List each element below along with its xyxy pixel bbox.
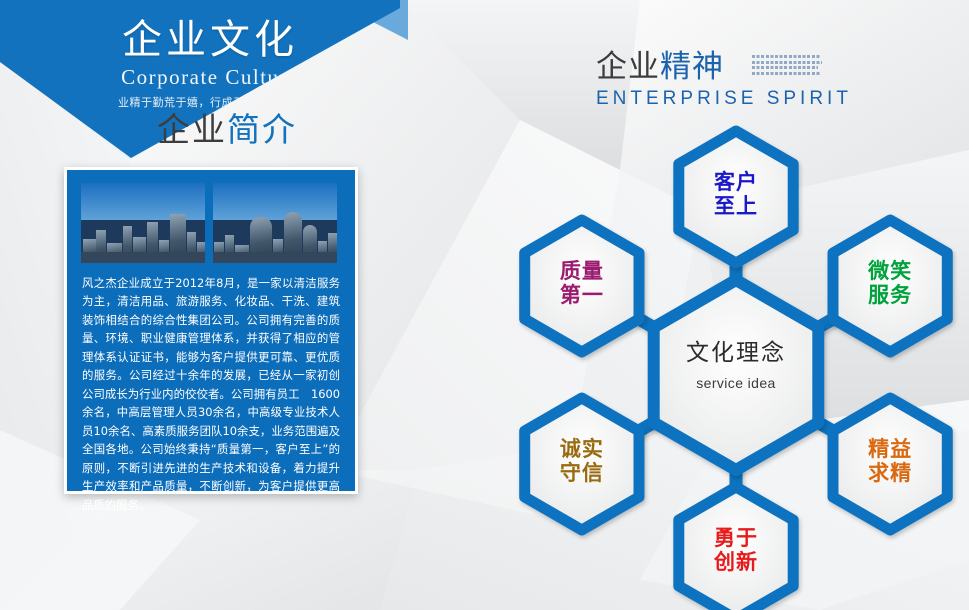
city-skyline-photo: [81, 183, 205, 263]
spirit-title-cn-dark: 企业: [596, 49, 660, 85]
hexagon-integrity[interactable]: [525, 398, 639, 530]
hexagon-svg: [480, 110, 969, 610]
intro-heading-dark: 企业: [157, 110, 227, 149]
hexagon-smile-service[interactable]: [833, 220, 947, 352]
skyscraper-photo: [213, 183, 337, 263]
photo-row: [67, 170, 355, 263]
decorative-microtext: [752, 55, 822, 77]
hexagon-quality-first[interactable]: [525, 220, 639, 352]
culture-hexagon-diagram: 客户至上微笑服务精益求精勇于创新诚实守信质量第一文化理念service idea: [480, 110, 969, 610]
poster-canvas: 企业文化 Corporate Culture 业精于勤荒于嬉，行成于思毁于随。 …: [0, 0, 969, 610]
photo-skyline: [81, 210, 205, 263]
photo-ground: [81, 252, 205, 263]
company-intro-card: 风之杰企业成立于2012年8月，是一家以清洁服务为主，清洁用品、旅游服务、化妆品…: [64, 167, 358, 494]
hexagon-innovation[interactable]: [679, 487, 793, 610]
hexagon-customer-first[interactable]: [679, 131, 793, 263]
photo-ground: [213, 252, 337, 263]
hexagon-center[interactable]: [654, 280, 819, 470]
hexagon-excellence[interactable]: [833, 398, 947, 530]
enterprise-spirit-title: 企业精神 ENTERPRISE SPIRIT: [596, 52, 852, 108]
spirit-title-en: ENTERPRISE SPIRIT: [596, 89, 852, 108]
spirit-title-cn-blue: 精神: [660, 49, 724, 85]
intro-heading: 企业简介: [157, 113, 297, 146]
intro-heading-blue: 简介: [227, 110, 297, 149]
company-intro-text: 风之杰企业成立于2012年8月，是一家以清洁服务为主，清洁用品、旅游服务、化妆品…: [67, 263, 355, 514]
photo-skyline: [213, 210, 337, 263]
